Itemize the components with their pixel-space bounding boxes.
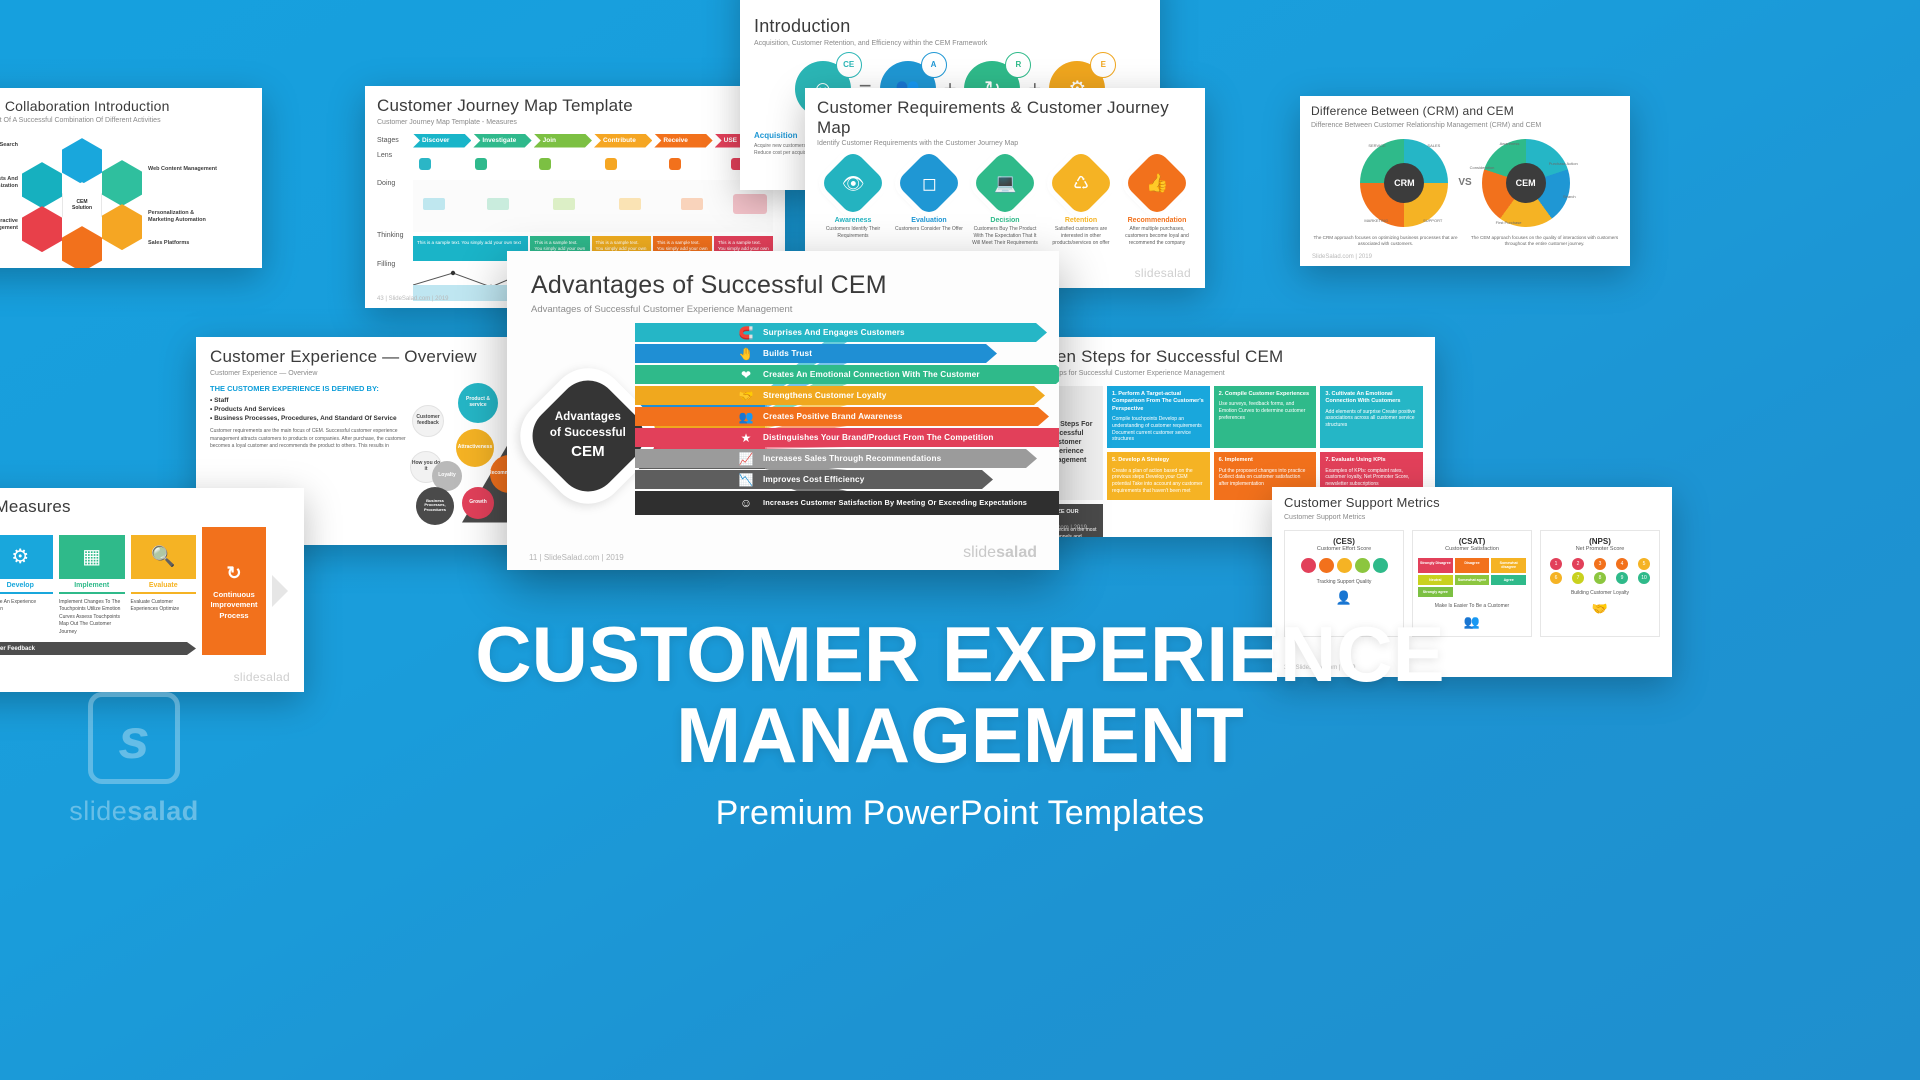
hex-web-content[interactable] bbox=[102, 160, 142, 206]
slide-title: Process - Measures bbox=[0, 497, 292, 517]
hex-label-2: Analytics Tests And Optimization bbox=[0, 176, 18, 190]
advantage-label-6: Increases Sales Through Recommendations bbox=[759, 454, 951, 464]
crm-donut[interactable]: CRM SERVICE SALES MARKETING SUPPORT bbox=[1360, 139, 1448, 227]
advantage-item-3[interactable]: 🤝 Strengthens Customer Loyalty bbox=[635, 386, 1045, 405]
hex-label-5: Sales Platforms bbox=[148, 240, 218, 247]
cem-seg-label-2: Search bbox=[1563, 194, 1576, 199]
advantage-ribbon-list: 🧲 Surprises And Engages Customers 🤚 Buil… bbox=[635, 321, 1059, 557]
face-angry[interactable] bbox=[1301, 558, 1316, 573]
advantage-label-2: Creates An Emotional Connection With The… bbox=[759, 370, 990, 380]
hex-analytics[interactable] bbox=[22, 162, 62, 208]
process-step-name-2: Implement bbox=[59, 579, 125, 594]
advantage-label-4: Creates Positive Brand Awareness bbox=[759, 412, 913, 422]
advantage-label-3: Strengthens Customer Loyalty bbox=[759, 391, 896, 401]
step-1-title: 1. Perform A Target-actual Comparison Fr… bbox=[1112, 391, 1205, 414]
overview-bullet-1: • Products And Services bbox=[210, 406, 410, 413]
advantage-item-2[interactable]: ❤ Creates An Emotional Connection With T… bbox=[635, 365, 1059, 384]
crm-center-label: CRM bbox=[1384, 163, 1424, 203]
requirement-desc-2: Customers Buy The Product With The Expec… bbox=[971, 226, 1039, 246]
nps-num-5[interactable]: 5 bbox=[1638, 558, 1650, 570]
bubble-growth[interactable]: Growth bbox=[462, 487, 494, 519]
advantage-label-0: Surprises And Engages Customers bbox=[759, 328, 915, 338]
hex-onsite-search[interactable] bbox=[62, 138, 102, 184]
process-step-name-3: Evaluate bbox=[131, 579, 197, 594]
requirement-name-3: Retention bbox=[1047, 217, 1115, 224]
slide-subtitle: Difference Between Customer Relationship… bbox=[1311, 122, 1619, 129]
hero-subtitle: Premium PowerPoint Templates bbox=[0, 794, 1920, 833]
advantage-item-1[interactable]: 🤚 Builds Trust bbox=[635, 344, 997, 363]
overview-bullet-text-1: Products And Services bbox=[214, 406, 285, 413]
metric-code-0: (CES) bbox=[1290, 537, 1398, 546]
requirement-retention[interactable]: ♺ Retention Satisfied customers are inte… bbox=[1047, 159, 1115, 246]
advantages-diagram: Advantages of Successful CEM 🧲 Surprises… bbox=[507, 321, 1059, 557]
requirement-name-0: Awareness bbox=[819, 217, 887, 224]
hex-sales-platforms[interactable] bbox=[62, 226, 102, 268]
cem-seg-label-4: Consideration bbox=[1470, 165, 1495, 170]
single-user-icon: 👤 bbox=[1290, 590, 1398, 606]
bubble-customer-feedback[interactable]: Customer feedback bbox=[412, 405, 444, 437]
face-very-happy[interactable] bbox=[1373, 558, 1388, 573]
advantage-item-0[interactable]: 🧲 Surprises And Engages Customers bbox=[635, 323, 1047, 342]
slide-footer: 43 | SlideSalad.com | 2019 bbox=[377, 296, 449, 302]
metric-caption-0: Tracking Support Quality bbox=[1290, 579, 1398, 585]
slide-crm-vs-cem[interactable]: Difference Between (CRM) and CEM Differe… bbox=[1300, 96, 1630, 266]
advantage-item-5[interactable]: ★ Distinguishes Your Brand/Product From … bbox=[635, 428, 1059, 447]
csat-chip-3[interactable]: Neutral bbox=[1418, 575, 1453, 585]
step-6-title: 6. Implement bbox=[1219, 457, 1312, 465]
badge-a: A bbox=[921, 52, 947, 78]
requirement-name-4: Recommendation bbox=[1123, 217, 1191, 224]
eye-user-icon: 👁 bbox=[819, 149, 887, 217]
advantage-label-8: Increases Customer Satisfaction By Meeti… bbox=[759, 499, 1037, 508]
slide-title: Difference Between (CRM) and CEM bbox=[1311, 105, 1619, 119]
requirement-desc-0: Customers Identify Their Requirements bbox=[819, 226, 887, 240]
step-2-title: 2. Compile Customer Experiences bbox=[1219, 391, 1312, 399]
requirement-desc-1: Customers Consider The Offer bbox=[895, 226, 963, 233]
step-5-body: Create a plan of action based on the pre… bbox=[1112, 468, 1203, 494]
comparison-notes: The CRM approach focuses on optimizing b… bbox=[1311, 235, 1619, 248]
requirement-name-2: Decision bbox=[971, 217, 1039, 224]
row-label-lens: Lens bbox=[377, 152, 411, 159]
process-step-bullets-3: Evaluate Customer Experiences Optimize bbox=[131, 599, 197, 614]
cem-seg-label-1: Purchase Action bbox=[1549, 161, 1578, 166]
nps-number-scale[interactable]: 1 2 3 4 5 6 7 8 9 10 bbox=[1546, 558, 1654, 584]
process-step-bullets-1: Create An Experience Design bbox=[0, 599, 53, 614]
hex-personalization[interactable] bbox=[102, 204, 142, 250]
wordmark-bold: salad bbox=[127, 796, 199, 826]
slide-subtitle: Customer Journey Map Template - Measures bbox=[377, 119, 773, 126]
brand-text: slidesalad bbox=[1135, 266, 1191, 280]
advantage-label-7: Improves Cost Efficiency bbox=[759, 475, 874, 485]
requirement-recommendation[interactable]: 👍 Recommendation After multiple purchase… bbox=[1123, 159, 1191, 246]
comparison-row: CRM SERVICE SALES MARKETING SUPPORT VS C… bbox=[1311, 139, 1619, 227]
metric-name-0: Customer Effort Score bbox=[1290, 546, 1398, 552]
slide-title: Seven Steps for Successful CEM bbox=[1027, 347, 1423, 367]
refresh-cycle-icon: ↻ bbox=[226, 561, 241, 585]
csat-chip-2[interactable]: Somewhat disagree bbox=[1491, 558, 1526, 573]
slide-subtitle: Which Are The Result Of A Successful Com… bbox=[0, 117, 250, 124]
nps-num-9[interactable]: 9 bbox=[1616, 572, 1628, 584]
slidesalad-watermark: s slidesalad bbox=[44, 692, 224, 827]
advantage-item-4[interactable]: 👥 Creates Positive Brand Awareness bbox=[635, 407, 1049, 426]
hex-label-3: Personalization & Marketing Automation bbox=[148, 210, 218, 224]
nps-num-1[interactable]: 1 bbox=[1550, 558, 1562, 570]
badge-r: R bbox=[1005, 52, 1031, 78]
stage-receive[interactable]: Receive bbox=[654, 134, 712, 148]
crm-note: The CRM approach focuses on optimizing b… bbox=[1311, 235, 1460, 248]
nps-num-4[interactable]: 4 bbox=[1616, 558, 1628, 570]
step-1-body: Compile touchpoints Develop an understan… bbox=[1112, 416, 1202, 442]
csat-chip-5[interactable]: Agree bbox=[1491, 575, 1526, 585]
csat-chip-grid[interactable]: Strongly Disagree Disagree Somewhat disa… bbox=[1418, 558, 1526, 597]
badge-line-1: Advantages bbox=[555, 411, 621, 423]
hex-cluster: CEMSolution Onsite Search Web Content Ma… bbox=[0, 136, 250, 254]
stage-discover[interactable]: Discover bbox=[413, 134, 471, 148]
overview-paragraph: Customer requirements are the main focus… bbox=[210, 428, 410, 450]
lens-icons-row bbox=[413, 152, 773, 180]
advantage-label-1: Builds Trust bbox=[759, 349, 822, 359]
handshake-icon: 🤝 bbox=[733, 390, 759, 402]
stage-contribute[interactable]: Contribute bbox=[594, 134, 652, 148]
advantage-item-8[interactable]: ☺ Increases Customer Satisfaction By Mee… bbox=[635, 491, 1059, 515]
stage-investigate[interactable]: Investigate bbox=[473, 134, 531, 148]
metric-name-2: Net Promoter Score bbox=[1546, 546, 1654, 552]
wordmark-light: slide bbox=[69, 796, 127, 826]
ces-face-scale[interactable] bbox=[1290, 558, 1398, 573]
advantages-center-badge-text: Advantages of Successful CEM bbox=[550, 410, 626, 462]
step-3-title: 3. Cultivate An Emotional Connection Wit… bbox=[1325, 391, 1418, 406]
brand-watermark: slidesalad bbox=[963, 544, 1037, 562]
nps-num-3[interactable]: 3 bbox=[1594, 558, 1606, 570]
metric-code-1: (CSAT) bbox=[1418, 537, 1526, 546]
slide-interactive-collaboration[interactable]: Interactive Collaboration Introduction W… bbox=[0, 88, 262, 268]
poster-hero-title: CUSTOMER EXPERIENCE MANAGEMENT Premium P… bbox=[0, 614, 1920, 833]
heart-icon: ❤ bbox=[733, 369, 759, 381]
advantages-header: Advantages of Successful CEM Advantages … bbox=[507, 271, 1059, 315]
poster-canvas: Interactive Collaboration Introduction W… bbox=[0, 0, 1920, 1080]
star-icon: ★ bbox=[733, 432, 759, 444]
requirement-name-1: Evaluation bbox=[895, 217, 963, 224]
row-label-doing: Doing bbox=[377, 180, 411, 187]
hero-line-1: CUSTOMER EXPERIENCE bbox=[0, 614, 1920, 695]
nps-num-2[interactable]: 2 bbox=[1572, 558, 1584, 570]
advantage-label-5: Distinguishes Your Brand/Product From Th… bbox=[759, 433, 1004, 443]
logo-letter: s bbox=[118, 706, 149, 771]
step-3[interactable]: 3. Cultivate An Emotional Connection Wit… bbox=[1320, 386, 1423, 449]
thumbs-up-icon: 👍 bbox=[1123, 149, 1191, 217]
slide-subtitle: Customer Support Metrics bbox=[1284, 514, 1660, 521]
slidesalad-wordmark: slidesalad bbox=[44, 796, 224, 827]
monitor-icon: 💻 bbox=[971, 149, 1039, 217]
journey-stage-row: Stages Discover Investigate Join Contrib… bbox=[377, 134, 773, 148]
brand-watermark: slidesalad bbox=[1135, 266, 1191, 280]
csat-chip-1[interactable]: Disagree bbox=[1455, 558, 1490, 573]
advantage-item-6[interactable]: 📈 Increases Sales Through Recommendation… bbox=[635, 449, 1037, 468]
overview-heading: THE CUSTOMER EXPERIENCE IS DEFINED BY: bbox=[210, 384, 410, 394]
slide-title: Interactive Collaboration Introduction bbox=[0, 98, 250, 114]
step-5-title: 5. Develop A Strategy bbox=[1112, 457, 1205, 465]
user-refresh-icon: ♺ bbox=[1047, 149, 1115, 217]
slide-title: Introduction bbox=[754, 16, 1146, 37]
brand-light: slide bbox=[963, 544, 996, 561]
crm-seg-label-1: SALES bbox=[1427, 143, 1440, 148]
crm-seg-label-2: MARKETING bbox=[1364, 218, 1388, 223]
slide-footer: SlideSalad.com | 2019 bbox=[1312, 254, 1372, 260]
cem-donut[interactable]: CEM Awareness Purchase Action Search Fir… bbox=[1482, 139, 1570, 227]
step-5[interactable]: 5. Develop A Strategy Create a plan of a… bbox=[1107, 452, 1210, 500]
metric-caption-1: Make Is Easier To Be a Customer bbox=[1418, 603, 1526, 609]
face-neutral[interactable] bbox=[1337, 558, 1352, 573]
overview-bullet-text-2: Business Processes, Procedures, And Stan… bbox=[214, 415, 397, 422]
gears-icon: ⚙ bbox=[0, 535, 53, 579]
vs-label: VS bbox=[1458, 177, 1471, 188]
badge-e: E bbox=[1090, 52, 1116, 78]
bubble-business-processes[interactable]: Business Processes, Procedures bbox=[416, 487, 454, 525]
hex-cem-solution[interactable]: CEMSolution bbox=[62, 182, 102, 228]
cem-center-label: CEM bbox=[1506, 163, 1546, 203]
slide-title: Customer Requirements & Customer Journey… bbox=[817, 98, 1193, 137]
overview-bullet-2: • Business Processes, Procedures, And St… bbox=[210, 415, 410, 422]
slide-title: Advantages of Successful CEM bbox=[531, 271, 1035, 300]
bubble-loyalty[interactable]: Loyalty bbox=[432, 461, 462, 491]
brand-bold: salad bbox=[996, 544, 1037, 561]
cem-note: The CEM approach focuses on the quality … bbox=[1470, 235, 1619, 248]
handshake-trust-icon: 🤚 bbox=[733, 348, 759, 360]
process-step-name-1: Develop bbox=[0, 579, 53, 594]
bar-chart-icon: 📈 bbox=[733, 453, 759, 465]
advantage-item-7[interactable]: 📉 Improves Cost Efficiency bbox=[635, 470, 993, 489]
face-happy[interactable] bbox=[1355, 558, 1370, 573]
badge-ce: CE bbox=[836, 52, 862, 78]
magnet-icon: 🧲 bbox=[733, 327, 759, 339]
people-group-icon: 👥 bbox=[733, 411, 759, 423]
box-arrows-icon: ◻ bbox=[895, 149, 963, 217]
slide-title: Customer Journey Map Template bbox=[377, 96, 773, 116]
slide-subtitle: Seven Steps for Successful Customer Expe… bbox=[1027, 370, 1423, 377]
slidesalad-logo-icon: s bbox=[88, 692, 180, 784]
step-2-body: Use surveys, feedback forms, and Emotion… bbox=[1219, 401, 1306, 421]
metric-code-2: (NPS) bbox=[1546, 537, 1654, 546]
hex-label-4: Customer Service & Interactive Managemen… bbox=[0, 218, 18, 232]
badge-line-2: of Successful bbox=[550, 426, 626, 438]
step-2[interactable]: 2. Compile Customer Experiences Use surv… bbox=[1214, 386, 1317, 449]
crm-seg-label-0: SERVICE bbox=[1368, 143, 1386, 148]
requirement-decision[interactable]: 💻 Decision Customers Buy The Product Wit… bbox=[971, 159, 1039, 246]
slide-subtitle: Advantages of Successful Customer Experi… bbox=[531, 304, 1035, 315]
crm-seg-label-3: SUPPORT bbox=[1423, 218, 1442, 223]
bubble-product-service[interactable]: Product & service bbox=[458, 383, 498, 423]
doing-flow-row bbox=[413, 180, 773, 232]
step-6-body: Put the proposed changes into practice C… bbox=[1219, 468, 1306, 488]
cem-seg-label-3: First Purchase bbox=[1496, 220, 1522, 225]
nps-num-8[interactable]: 8 bbox=[1594, 572, 1606, 584]
blueprint-icon: ▦ bbox=[59, 535, 125, 579]
trend-down-icon: 📉 bbox=[733, 474, 759, 486]
requirement-awareness[interactable]: 👁 Awareness Customers Identify Their Req… bbox=[819, 159, 887, 246]
requirement-evaluation[interactable]: ◻ Evaluation Customers Consider The Offe… bbox=[895, 159, 963, 246]
stage-join[interactable]: Join bbox=[534, 134, 592, 148]
slide-title: Customer Support Metrics bbox=[1284, 496, 1660, 511]
row-label-stages: Stages bbox=[377, 137, 411, 144]
overview-bullet-text-0: Staff bbox=[214, 397, 228, 404]
cem-seg-label-0: Awareness bbox=[1500, 141, 1520, 146]
csat-chip-6[interactable]: Strongly agree bbox=[1418, 587, 1453, 597]
requirement-desc-3: Satisfied customers are interested in ot… bbox=[1047, 226, 1115, 246]
csat-chip-4[interactable]: Somewhat agree bbox=[1455, 575, 1490, 585]
face-sad[interactable] bbox=[1319, 558, 1334, 573]
row-label-filling: Filling bbox=[377, 261, 411, 268]
smiley-icon: ☺ bbox=[733, 497, 759, 509]
magnifier-chart-icon: 🔍 bbox=[131, 535, 197, 579]
slide-subtitle: Identify Customer Requirements with the … bbox=[817, 140, 1193, 147]
overview-bullet-0: • Staff bbox=[210, 397, 410, 404]
nps-num-10[interactable]: 10 bbox=[1638, 572, 1650, 584]
hex-label-0: Onsite Search bbox=[0, 142, 18, 149]
step-3-body: Add elements of surprise Create positive… bbox=[1325, 409, 1415, 429]
csat-chip-0[interactable]: Strongly Disagree bbox=[1418, 558, 1453, 573]
hero-line-2: MANAGEMENT bbox=[0, 695, 1920, 776]
hex-label-1: Web Content Management bbox=[148, 166, 218, 173]
hex-customer-service[interactable] bbox=[22, 206, 62, 252]
requirement-desc-4: After multiple purchases, customers beco… bbox=[1123, 226, 1191, 246]
metric-name-1: Customer Satisfaction bbox=[1418, 546, 1526, 552]
slide-footer: 11 | SlideSalad.com | 2019 bbox=[529, 553, 624, 562]
metric-caption-2: Building Customer Loyalty bbox=[1546, 590, 1654, 596]
step-7-body: Examples of KPIs: complaint rates, custo… bbox=[1325, 468, 1409, 488]
badge-line-3: CEM bbox=[550, 442, 626, 462]
step-7-title: 7. Evaluate Using KPIs bbox=[1325, 457, 1418, 465]
nps-num-6[interactable]: 6 bbox=[1550, 572, 1562, 584]
row-label-thinking: Thinking bbox=[377, 232, 411, 239]
nps-num-7[interactable]: 7 bbox=[1572, 572, 1584, 584]
requirements-row: 👁 Awareness Customers Identify Their Req… bbox=[817, 159, 1193, 246]
slide-subtitle: Acquisition, Customer Retention, and Eff… bbox=[754, 40, 1146, 47]
step-1[interactable]: 1. Perform A Target-actual Comparison Fr… bbox=[1107, 386, 1210, 449]
bubble-attractiveness[interactable]: Attractiveness bbox=[456, 429, 494, 467]
slide-advantages-of-successful-cem[interactable]: Advantages of Successful CEM Advantages … bbox=[507, 251, 1059, 570]
